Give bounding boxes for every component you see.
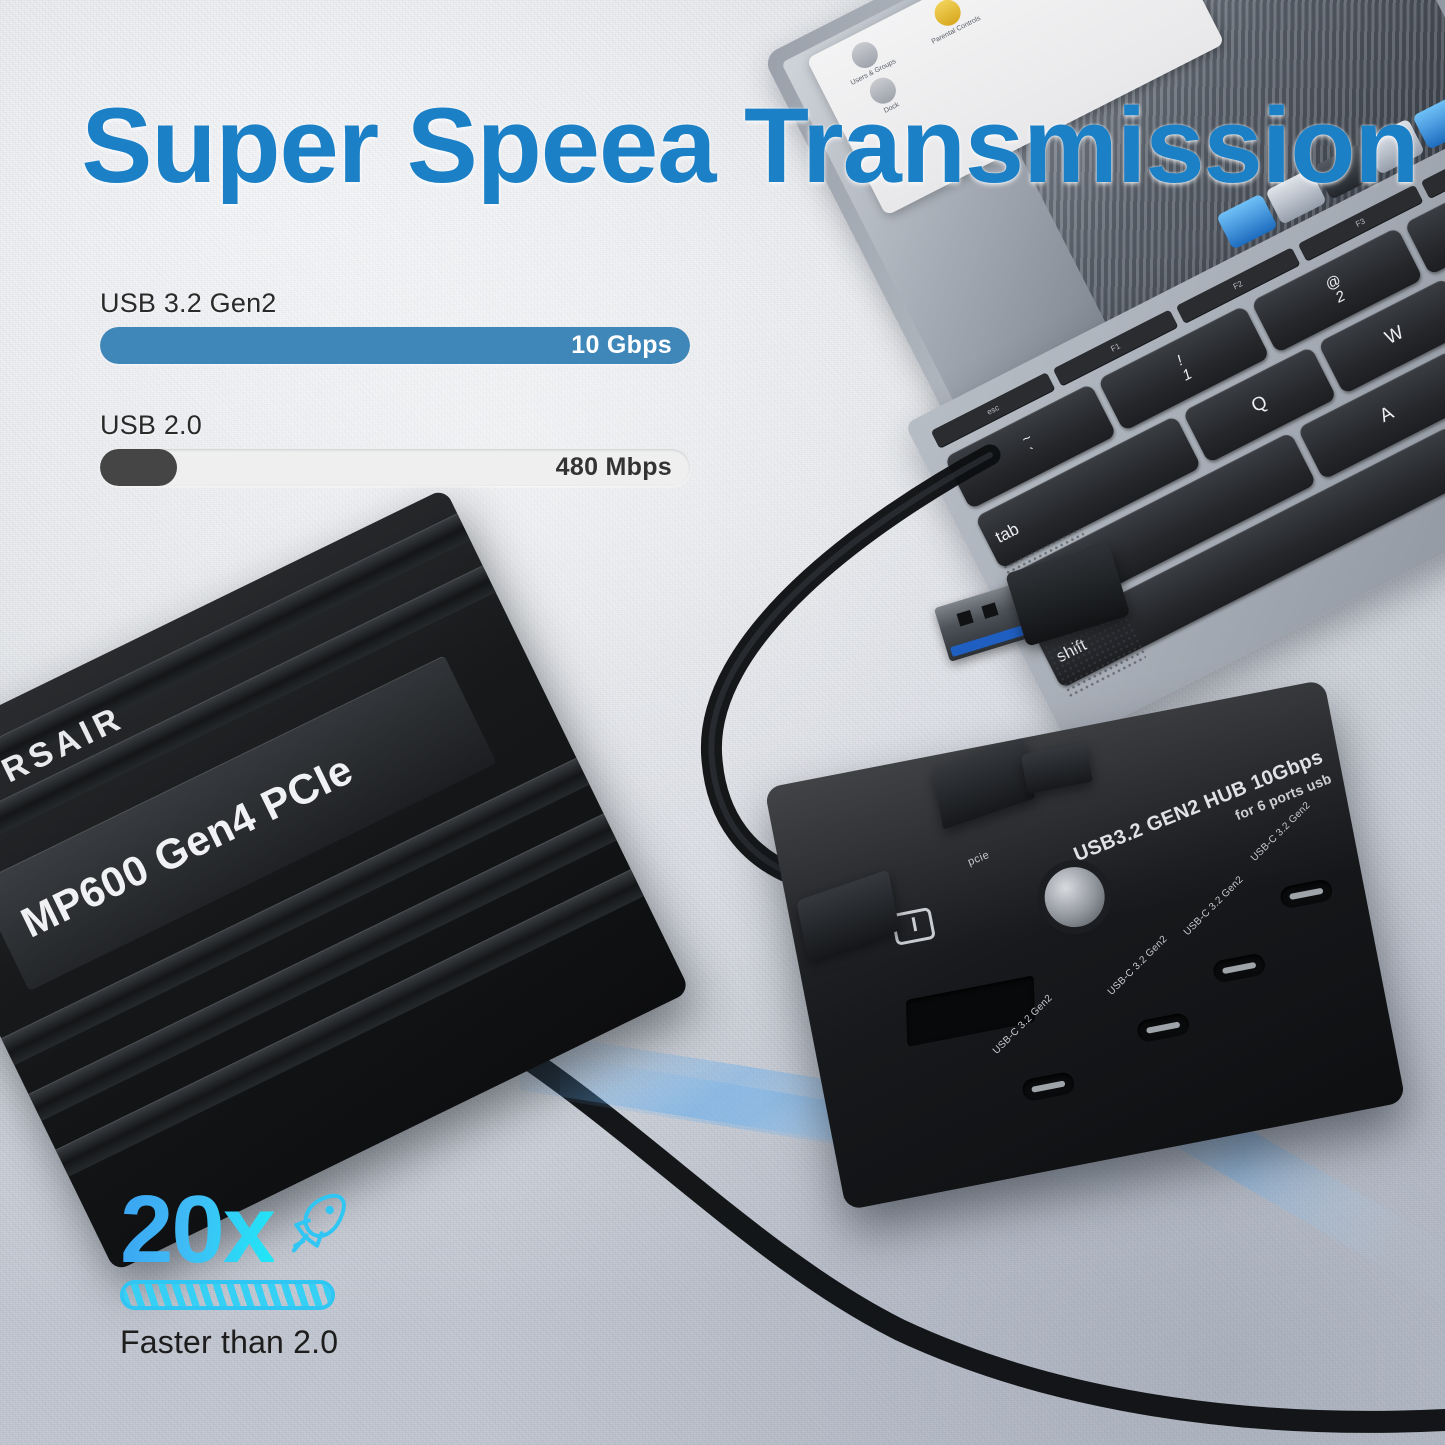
badge-top-row: 20x: [120, 1186, 420, 1274]
speed-row-label: USB 3.2 Gen2: [100, 288, 690, 319]
usb-c-port-1[interactable]: [1021, 1071, 1076, 1103]
key-label-lower: `: [1028, 445, 1040, 461]
speed-bar-fill: [100, 449, 177, 486]
badge-progress-bar: [120, 1280, 335, 1310]
speed-bar-track: 10 Gbps: [100, 327, 690, 364]
usb-c-port-2[interactable]: [1136, 1012, 1191, 1044]
speed-row-usb20: USB 2.0 480 Mbps: [100, 410, 690, 486]
key-label-lower: 1: [1180, 366, 1195, 384]
page-title: Super Speea Transmission: [81, 92, 1434, 199]
pref-icon-parental: Parental Controls: [901, 0, 999, 54]
speed-bar-value: 10 Gbps: [571, 327, 672, 364]
key-label-lower: 2: [1333, 288, 1348, 306]
speed-bar-track: 480 Mbps: [100, 449, 690, 486]
speed-row-usb32: USB 3.2 Gen2 10 Gbps: [100, 288, 690, 364]
product-marketing-image: Users & Groups Parental Controls App Sto…: [0, 0, 1445, 1445]
speed-multiplier-badge: 20x Faster than 2.0: [120, 1186, 420, 1361]
badge-caption: Faster than 2.0: [120, 1324, 420, 1361]
rocket-icon: [280, 1188, 354, 1262]
speed-bar-value: 480 Mbps: [556, 449, 672, 486]
pref-icon-appstore: App Store: [984, 0, 1082, 12]
badge-progress-stripes: [124, 1284, 331, 1306]
badge-multiplier: 20x: [120, 1186, 274, 1274]
speed-comparison: USB 3.2 Gen2 10 Gbps USB 2.0 480 Mbps: [100, 288, 690, 486]
speed-row-label: USB 2.0: [100, 410, 690, 441]
pref-caption: App Store: [997, 0, 1081, 12]
usb-c-port-3[interactable]: [1212, 952, 1267, 984]
usb-c-port-2-label: USB-C 3.2 Gen2: [1106, 934, 1170, 998]
